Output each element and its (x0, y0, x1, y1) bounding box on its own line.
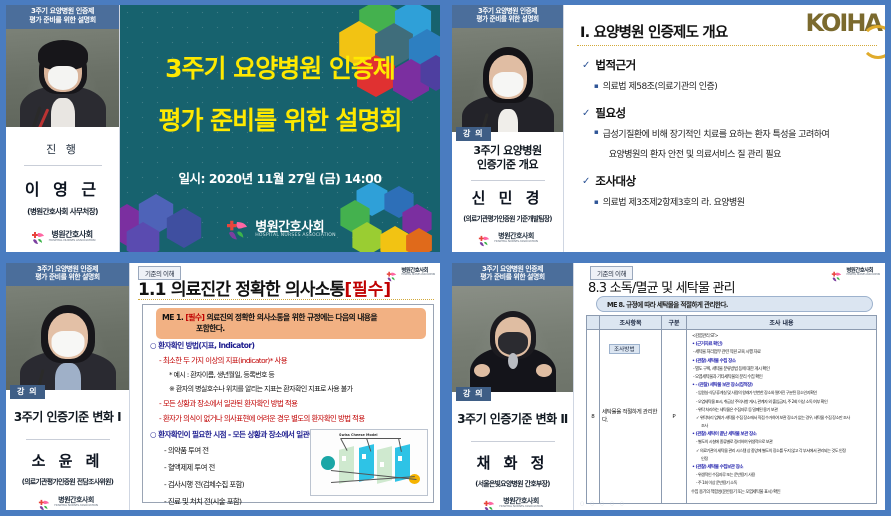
video-grid: 3주기 요양병원 인증제 평가 준비를 위한 설명회 (0, 0, 891, 516)
hna-logo-en: HOSPITAL NURSES ASSOCIATION (54, 504, 98, 507)
survey-method-chip: 조사방법 (609, 344, 640, 354)
check-icon: ✓ (582, 176, 590, 187)
criteria-line: - 환자가 의식이 없거나 의사표현에 어려운 경우 별도의 환자확인 방법 적… (159, 413, 365, 424)
event-banner: 3주기 요양병원 인증제 평가 준비를 위한 설명회 (6, 5, 119, 29)
content-line: - 별도 구획, 세탁물 분류방법 등에 대한 게시 확인 (693, 366, 873, 372)
speaker-affiliation: (병원간호사회 사무처장) (27, 206, 98, 217)
criteria-line: - 모든 상황과 장소에서 일관된 환자확인 방법 적용 (159, 398, 365, 409)
speaker-video[interactable]: 3주기 요양병원 인증제 평가 준비를 위한 설명회 (452, 5, 564, 252)
content-line: • (근거자료 확인) (692, 341, 873, 347)
content-line: • (관찰) 세탁물 수집 장소 (692, 358, 873, 364)
event-banner: 3주기 요양병원 인증제 평가 준비를 위한 설명회 (6, 263, 129, 286)
speaker-name: 신 민 경 (472, 187, 544, 208)
speaker-nameplate: 진 행 이 영 근 (병원간호사회 사무처장) (6, 127, 119, 252)
event-banner-line2: 평가 준비를 위한 설명회 (452, 273, 573, 281)
table-cell-item-value: 세탁물을 적절하게 관리한다. (602, 409, 659, 426)
speaker-name: 소 윤 례 (32, 450, 104, 471)
speaker-video[interactable]: 3주기 요양병원 인증제 평가 준비를 위한 설명회 (6, 5, 120, 252)
check-icon: ✓ (582, 108, 590, 119)
section-item: 의료법 제3조제2항제3호의 라. 요양병원 (603, 195, 745, 208)
speaker-affiliation: (의료기관평가인증원 기준개발팀장) (463, 213, 552, 223)
survey-table: 조사항목 구분 조사 내용 8 조사방법 세탁물을 적절하게 관리한다. (586, 315, 877, 504)
speaker-topic-line-1: 3주기 인증기준 변화 Ⅰ (14, 410, 121, 426)
speaker-nameplate: 3주기 인증기준 변화 Ⅱ 채 화 정 (서울은빛요양병원 간호부장) (452, 392, 573, 510)
section-title: 필요성 (595, 105, 625, 121)
title-slide: 3주기 요양병원 인증제 평가 준비를 위한 설명회 일시: 2020년 11월… (120, 5, 440, 252)
criteria-line: * 예시 : 환자이름, 생년월일, 등록번호 등 (169, 370, 365, 380)
event-banner: 3주기 요양병원 인증제 평가 준비를 위한 설명회 (452, 5, 563, 28)
panel-stage: 3주기 요양병원 인증제 평가 준비를 위한 설명회 (452, 5, 885, 252)
event-banner: 3주기 요양병원 인증제 평가 준비를 위한 설명회 (452, 263, 573, 286)
hna-logo-mark (37, 496, 51, 508)
heading-rule (577, 45, 877, 46)
speaker-topic-line-1: 3주기 요양병원 (473, 144, 541, 158)
slide-heading-mark: [필수] (344, 280, 391, 300)
speaker-topic-line-1: 3주기 인증기준 변화 Ⅱ (457, 412, 568, 428)
criteria-line: ※ 환자의 병실호수나 위치를 알리는 지표는 환자확인 지표로 사용 불가 (169, 384, 365, 394)
speaker-video[interactable]: 3주기 요양병원 인증제 평가 준비를 위한 설명회 (6, 263, 130, 510)
speaker-affiliation: (의료기관평가인증원 전담조사위원) (22, 476, 114, 486)
content-line: 수집 용기의 적합성(운반용기 또는 오염세탁물 표시) 확인 (691, 489, 873, 495)
content-line: <감염관리 ST> (692, 333, 873, 339)
hna-logo-mark (830, 267, 843, 278)
diagram-caption: Swiss Cheese Model (339, 433, 378, 437)
bullet-icon: ▪ (594, 127, 599, 138)
gangui-tag: 강 의 (456, 127, 491, 141)
table-col-gubun: 구분 (662, 316, 687, 329)
me-statement-box: ME 1. [필수] 의료진의 정확한 의사소통을 위한 규정에는 다음의 내용… (156, 308, 426, 339)
hna-logo-mark (482, 497, 496, 509)
panel-title[interactable]: 3주기 요양병원 인증제 평가 준비를 위한 설명회 (0, 0, 446, 258)
hna-logo-en: HOSPITAL NURSES ASSOCIATION (401, 274, 435, 276)
speaker-video[interactable]: 3주기 요양병원 인증제 평가 준비를 위한 설명회 (452, 263, 574, 510)
speaker-name: 이 영 근 (25, 176, 100, 200)
content-line: • (관찰) 세탁이 끝난 세탁물 보관 장소 (692, 431, 873, 437)
table-cell-gubun: P (662, 330, 687, 504)
table-cell-no-value: 8 (591, 414, 595, 420)
content-line: 조사 (701, 423, 873, 429)
hna-logo: 병원간호사회 HOSPITAL NURSES ASSOCIATION (30, 230, 96, 244)
table-cell-no: 8 (587, 330, 600, 504)
camera-feed: 강 의 (6, 286, 129, 401)
camera-feed: 강 의 (452, 286, 573, 403)
section-item: 요양병원의 환자 안전 및 의료서비스 질 관리 필요 (609, 147, 830, 160)
slide-heading: 8.3 소독/멸균 및 세탁물 관리 (588, 277, 735, 296)
content-line: - 오염세탁물과 기타세탁물의 분리 수집 확인 (693, 374, 873, 380)
hna-logo-svg (477, 235, 491, 247)
brand-logo-svg (224, 219, 250, 241)
content-line: - 주 1회 이상 운반용기 소독 (696, 480, 873, 486)
event-banner-line2: 평가 준비를 위한 설명회 (6, 16, 119, 25)
bullet-icon: ▪ (594, 82, 599, 90)
hna-logo-en: HOSPITAL NURSES ASSOCIATION (49, 240, 96, 243)
panel-frame: 3주기 요양병원 인증제 평가 준비를 위한 설명회 (0, 258, 446, 516)
title-line-1: 3주기 요양병원 인증제 (120, 49, 440, 85)
hna-logo-svg (830, 271, 843, 282)
table-cell-item: 조사방법 세탁물을 적절하게 관리한다. (600, 330, 662, 504)
hna-logo-svg (482, 500, 496, 510)
table-col-content: 조사 내용 (687, 316, 876, 329)
table-cell-content: <감염관리 ST> • (근거자료 확인) - 세탁물 처리업무 관련 직원 교… (687, 330, 876, 504)
hna-logo: 병원간호사회 HOSPITAL NURSES ASSOCIATION (385, 267, 435, 278)
section-title: 법적근거 (595, 57, 635, 73)
content-line: • - (관찰) 세탁물 보관 장소(집적장) (692, 382, 873, 388)
table-row: 8 조사방법 세탁물을 적절하게 관리한다. P <감염관리 ST> (587, 330, 876, 504)
content-line: - 별도의 시설에 종류별로 정리하여 위생적으로 보관 (696, 439, 873, 445)
hna-logo-mark (477, 232, 491, 244)
criteria-line: - 진료 및 처치 전(시술 포함) (164, 496, 365, 507)
brand-logo-mark (224, 219, 250, 241)
table-col-item: 조사항목 (600, 316, 662, 329)
section-item: 급성기질환에 비해 장기적인 치료를 요하는 환자 특성을 고려하여 (603, 127, 830, 140)
speaker-name: 채 화 정 (477, 452, 549, 473)
table-slide: 기준의 이해 병원간호사회 HOSPITAL N (574, 263, 885, 510)
panel-frame: 3주기 요양병원 인증제 평가 준비를 위한 설명회 (446, 258, 891, 516)
speaker-nameplate: 3주기 요양병원 인증기준 개요 신 민 경 (의료기관평가인증원 기준개발팀장… (452, 132, 563, 252)
me-required-mark: [필수] (185, 313, 204, 322)
me-text-line-2: 포함한다. (196, 323, 420, 334)
speaker-topic-line-2: 인증기준 개요 (477, 158, 538, 172)
table-header-row: 조사항목 구분 조사 내용 (587, 316, 876, 330)
content-line: • (관찰) 세탁물 수집보관 장소 (692, 464, 873, 470)
hna-logo: 병원간호사회 HOSPITAL NURSES ASSOCIATION (477, 232, 538, 244)
content-line: - 위탁 처리하는 세탁물은 수집자루 등 밀폐된 용기 보관 (696, 407, 873, 413)
title-date: 일시: 2020년 11월 27일 (금) 14:00 (120, 168, 440, 187)
swiss-cheese-diagram: Swiss Cheese Model (310, 429, 428, 496)
hna-logo-mark (30, 230, 46, 244)
criteria-slide: 기준의 이해 병원간호사회 HOSPITAL N (130, 263, 440, 510)
content-line: ✓ 위탁처리 업체가 세탁물 수집 장소에서 직접 수거하여 보관 장소가 없는… (696, 415, 873, 421)
panel-stage: 3주기 요양병원 인증제 평가 준비를 위한 설명회 (6, 263, 440, 510)
page-dots: ◌ ◌ ◌ ◌ ◌ (580, 501, 626, 507)
hna-logo-en: HOSPITAL NURSES ASSOCIATION (494, 240, 538, 243)
table-cell-gubun-value: P (672, 414, 675, 420)
panel-change-1[interactable]: 3주기 요양병원 인증제 평가 준비를 위한 설명회 (0, 258, 446, 516)
hna-logo-en: HOSPITAL NURSES ASSOCIATION (846, 274, 880, 276)
content-line: ✓ 의료기관의 세탁물 관리 시스템 상 중앙에 별도의 장소를 두지 않고 각… (696, 448, 873, 454)
check-icon: ✓ (582, 60, 590, 71)
hna-logo-svg (30, 231, 46, 245)
me-statement-box: ME 8. 규정에 따라 세탁물을 적절하게 관리한다. (596, 296, 873, 312)
event-banner-line1: 3주기 요양병원 인증제 (6, 7, 119, 16)
camera-feed: 강 의 (452, 28, 563, 143)
gangui-tag: 강 의 (456, 387, 491, 401)
brand-bar: 병원간호사회 HOSPITAL NURSES ASSOCIATION (120, 208, 440, 252)
me-text: 의료진의 정확한 의사소통을 위한 규정에는 다음의 내용을 (204, 313, 377, 322)
panel-frame: 3주기 요양병원 인증제 평가 준비를 위한 설명회 (446, 0, 891, 258)
event-banner-line2: 평가 준비를 위한 설명회 (6, 273, 129, 281)
content-line: - 세탁물 처리업무 관련 직원 교육 시행 자료 (693, 349, 873, 355)
title-line-2: 평가 준비를 위한 설명회 (120, 101, 440, 137)
table-col-no (587, 316, 600, 329)
hna-logo: 병원간호사회 HOSPITAL NURSES ASSOCIATION (37, 496, 98, 508)
overview-slide: KOIHA Ⅰ. 요양병원 인증제도 개요 ✓ 법적근거 ▪ 의료법 제58조(… (564, 5, 885, 252)
criteria-line: ○ 환자확인 방법(지표, Indicator) (150, 340, 365, 351)
hna-logo: 병원간호사회 HOSPITAL NURSES ASSOCIATION (482, 497, 543, 509)
content-line: - 오염세탁물 표시, 취급상 주의사항 게시, 관계자 외 출입금지, 주 2… (696, 399, 873, 405)
bullet-icon: ▪ (594, 198, 599, 206)
brand-en: HOSPITAL NURSES ASSOCIATION (255, 234, 335, 239)
criteria-line: - 최소한 두 가지 이상의 지표(indicator)* 사용 (159, 355, 365, 366)
section-item: 의료법 제58조(의료기관의 인증) (603, 79, 718, 92)
content-line: - 입원실·식당·휴게실 및 사람의 왕래가 빈번한 장소와 떨어진 구분된 장… (696, 390, 873, 396)
panel-stage: 3주기 요양병원 인증제 평가 준비를 위한 설명회 (452, 263, 885, 510)
koiha-swoosh-icon (861, 25, 885, 59)
panel-stage: 3주기 요양병원 인증제 평가 준비를 위한 설명회 (6, 5, 440, 252)
content-line: - 위생적인 수집자루 또는 운반용기 사용 (696, 472, 873, 478)
slide-heading: 1.1 의료진간 정확한 의사소통 (138, 280, 344, 300)
panel-overview[interactable]: 3주기 요양병원 인증제 평가 준비를 위한 설명회 (446, 0, 891, 258)
event-banner-line2: 평가 준비를 위한 설명회 (452, 15, 563, 23)
gangui-tag: 강 의 (10, 385, 45, 399)
content-line: 인정 (701, 456, 873, 462)
me-label: ME 1. (162, 313, 185, 322)
speaker-nameplate: 3주기 인증기준 변화 Ⅰ 소 윤 례 (의료기관평가인증원 전담조사위원) (6, 390, 129, 510)
speaker-role: 진 행 (46, 141, 79, 157)
hna-logo-en: HOSPITAL NURSES ASSOCIATION (499, 505, 543, 508)
heading-rule (138, 299, 434, 300)
panel-frame: 3주기 요양병원 인증제 평가 준비를 위한 설명회 (0, 0, 446, 258)
slide-heading: Ⅰ. 요양병원 인증제도 개요 (580, 21, 727, 42)
hna-logo: 병원간호사회 HOSPITAL NURSES ASSOCIATION (830, 267, 880, 278)
panel-change-2[interactable]: 3주기 요양병원 인증제 평가 준비를 위한 설명회 (446, 258, 891, 516)
camera-feed (6, 29, 119, 138)
hna-logo-svg (37, 499, 51, 510)
event-banner-line1: 3주기 요양병원 인증제 (452, 7, 563, 15)
speaker-affiliation: (서울은빛요양병원 간호부장) (475, 478, 550, 488)
section-title: 조사대상 (595, 173, 635, 189)
